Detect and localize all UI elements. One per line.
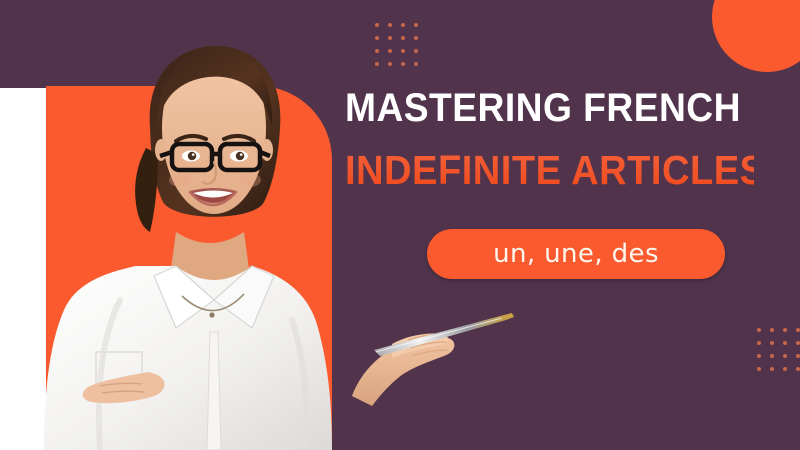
dot — [783, 328, 787, 332]
dot — [783, 367, 787, 371]
dot — [796, 328, 800, 332]
dot — [757, 354, 761, 358]
dot — [770, 341, 774, 345]
dot — [757, 367, 761, 371]
dot — [770, 354, 774, 358]
dot — [770, 328, 774, 332]
articles-pill-label: un, une, des — [493, 239, 659, 269]
articles-pill-badge: un, une, des — [427, 229, 725, 279]
text-column: MASTERING FRENCH INDEFINITE ARTICLES un,… — [345, 88, 785, 279]
dot — [757, 341, 761, 345]
dot — [796, 367, 800, 371]
dot — [796, 341, 800, 345]
corner-circle-decoration — [712, 0, 800, 72]
dot — [757, 328, 761, 332]
white-shirt — [44, 266, 332, 450]
hand-with-pen — [352, 300, 552, 410]
headline-line-2: INDEFINITE ARTICLES — [345, 150, 754, 191]
dot — [770, 367, 774, 371]
dot — [783, 354, 787, 358]
dot-grid-bottom-decoration — [757, 328, 800, 371]
headline-line-1: MASTERING FRENCH — [345, 88, 754, 128]
ponytail — [135, 148, 158, 232]
course-banner: MASTERING FRENCH INDEFINITE ARTICLES un,… — [0, 0, 800, 450]
dot — [783, 341, 787, 345]
dot — [796, 354, 800, 358]
